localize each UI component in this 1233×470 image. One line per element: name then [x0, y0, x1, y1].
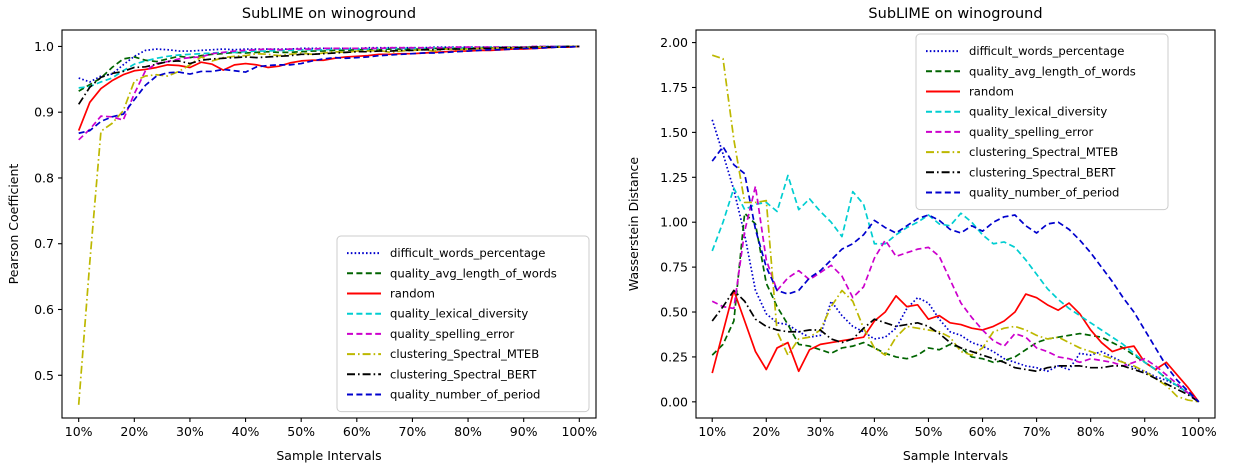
x-tick-label: 90%	[1131, 424, 1159, 439]
legend-label-random: random	[390, 287, 435, 301]
y-tick-label: 0.00	[660, 394, 688, 409]
x-tick-label: 50%	[915, 424, 943, 439]
series-line-quality_avg_length_of_words	[712, 213, 1199, 402]
x-tick-label: 80%	[454, 424, 482, 439]
y-tick-label: 0.75	[660, 260, 688, 275]
x-tick-label: 60%	[969, 424, 997, 439]
x-tick-label: 30%	[806, 424, 834, 439]
x-tick-label: 40%	[861, 424, 889, 439]
y-tick-label: 0.25	[660, 349, 688, 364]
legend-label-quality_number_of_period: quality_number_of_period	[969, 186, 1119, 200]
y-tick-label: 0.5	[34, 368, 54, 383]
x-axis-label: Sample Intervals	[276, 448, 381, 463]
legend-label-quality_spelling_error: quality_spelling_error	[390, 327, 514, 341]
x-tick-label: 40%	[232, 424, 260, 439]
y-axis-label: Pearson Coefficient	[6, 164, 21, 285]
y-tick-label: 1.00	[660, 215, 688, 230]
legend-label-quality_avg_length_of_words: quality_avg_length_of_words	[969, 64, 1136, 78]
x-tick-label: 100%	[1181, 424, 1217, 439]
x-tick-label: 30%	[176, 424, 204, 439]
x-axis-label: Sample Intervals	[903, 448, 1008, 463]
legend-label-quality_avg_length_of_words: quality_avg_length_of_words	[390, 266, 557, 280]
x-tick-label: 20%	[752, 424, 780, 439]
y-tick-label: 1.25	[660, 170, 688, 185]
y-tick-label: 2.00	[660, 35, 688, 50]
y-tick-label: 0.8	[34, 170, 54, 185]
x-tick-label: 100%	[561, 424, 597, 439]
chart-svg-left: SubLIME on winoground10%20%30%40%50%60%7…	[0, 0, 616, 470]
x-tick-label: 10%	[65, 424, 93, 439]
chart-svg-right: SubLIME on winoground10%20%30%40%50%60%7…	[616, 0, 1233, 470]
y-tick-label: 0.50	[660, 305, 688, 320]
y-tick-label: 0.7	[34, 236, 54, 251]
legend-label-clustering_Spectral_MTEB: clustering_Spectral_MTEB	[390, 347, 539, 361]
x-tick-label: 60%	[343, 424, 371, 439]
legend-label-clustering_Spectral_MTEB: clustering_Spectral_MTEB	[969, 145, 1118, 159]
legend-label-clustering_Spectral_BERT: clustering_Spectral_BERT	[390, 367, 537, 381]
legend-box	[337, 236, 589, 412]
x-tick-label: 90%	[510, 424, 538, 439]
x-tick-label: 70%	[399, 424, 427, 439]
chart-title: SubLIME on winoground	[242, 6, 416, 22]
x-tick-label: 20%	[120, 424, 148, 439]
x-tick-label: 10%	[698, 424, 726, 439]
legend-label-difficult_words_percentage: difficult_words_percentage	[969, 44, 1124, 58]
legend-label-quality_lexical_diversity: quality_lexical_diversity	[390, 307, 528, 321]
legend-label-difficult_words_percentage: difficult_words_percentage	[390, 246, 545, 260]
legend-label-quality_number_of_period: quality_number_of_period	[390, 388, 540, 402]
y-tick-label: 1.75	[660, 80, 688, 95]
x-tick-label: 80%	[1077, 424, 1105, 439]
legend-label-quality_lexical_diversity: quality_lexical_diversity	[969, 105, 1107, 119]
chart-title: SubLIME on winoground	[868, 6, 1042, 22]
y-tick-label: 0.6	[34, 302, 54, 317]
figure-root: SubLIME on winoground10%20%30%40%50%60%7…	[0, 0, 1233, 470]
x-tick-label: 50%	[287, 424, 315, 439]
legend-label-clustering_Spectral_BERT: clustering_Spectral_BERT	[969, 165, 1116, 179]
x-tick-label: 70%	[1023, 424, 1051, 439]
chart-panel-left: SubLIME on winoground10%20%30%40%50%60%7…	[0, 0, 616, 470]
legend-label-quality_spelling_error: quality_spelling_error	[969, 125, 1093, 139]
legend-label-random: random	[969, 85, 1014, 99]
chart-panel-right: SubLIME on winoground10%20%30%40%50%60%7…	[616, 0, 1233, 470]
y-tick-label: 0.9	[34, 105, 54, 120]
legend-box	[916, 34, 1168, 210]
series-line-clustering_Spectral_BERT	[79, 46, 580, 104]
y-tick-label: 1.0	[34, 39, 54, 54]
y-tick-label: 1.50	[660, 125, 688, 140]
y-axis-label: Wasserstein Distance	[626, 157, 641, 292]
